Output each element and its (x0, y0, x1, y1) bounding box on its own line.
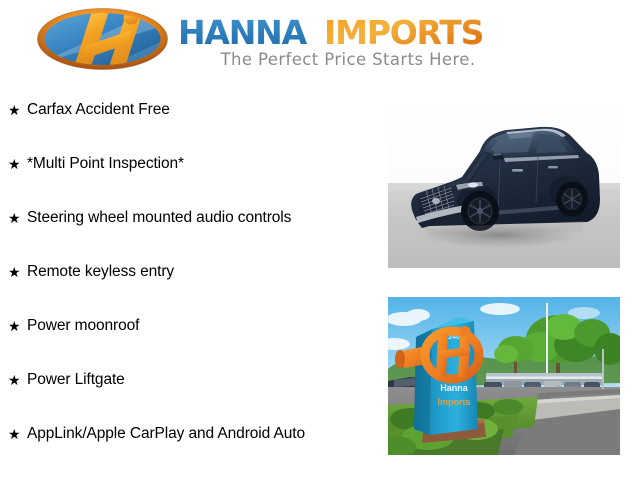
vehicle-listing-page: HANNA IMPORTS The Perfect Price Starts H… (0, 0, 640, 480)
list-item: ★ *Multi Point Inspection* (0, 146, 380, 200)
feature-label: AppLink/Apple CarPlay and Android Auto (27, 416, 380, 444)
feature-label: Carfax Accident Free (27, 92, 380, 120)
star-icon: ★ (8, 146, 27, 175)
list-item: ★ Remote keyless entry (0, 254, 380, 308)
list-item: ★ Steering wheel mounted audio controls (0, 200, 380, 254)
hanna-oval-h-logo-icon (36, 8, 169, 70)
feature-label: *Multi Point Inspection* (27, 146, 380, 174)
list-item: ★ Carfax Accident Free (0, 92, 380, 146)
svg-text:IMPORTS: IMPORTS (324, 13, 483, 52)
svg-text:HANNA: HANNA (178, 13, 308, 52)
feature-label: Steering wheel mounted audio controls (27, 200, 380, 228)
star-icon: ★ (8, 92, 27, 121)
svg-text:Imports: Imports (437, 397, 470, 407)
dealership-photo[interactable]: 240 Hanna Imports (388, 297, 620, 455)
brand-tagline: The Perfect Price Starts Here. (178, 50, 518, 69)
feature-label: Remote keyless entry (27, 254, 380, 282)
list-item: ★ AppLink/Apple CarPlay and Android Auto (0, 416, 380, 470)
feature-label: Power moonroof (27, 308, 380, 336)
vehicle-features-list: ★ Carfax Accident Free ★ *Multi Point In… (0, 92, 380, 470)
dealer-header: HANNA IMPORTS The Perfect Price Starts H… (0, 0, 640, 88)
list-item: ★ Power Liftgate (0, 362, 380, 416)
star-icon: ★ (8, 200, 27, 229)
star-icon: ★ (8, 308, 27, 337)
brand-wordmark: HANNA IMPORTS (178, 13, 518, 53)
star-icon: ★ (8, 362, 27, 391)
feature-label: Power Liftgate (27, 362, 380, 390)
star-icon: ★ (8, 416, 27, 445)
list-item: ★ Power moonroof (0, 308, 380, 362)
svg-text:Hanna: Hanna (440, 383, 469, 393)
vehicle-photo[interactable] (388, 95, 620, 268)
star-icon: ★ (8, 254, 27, 283)
